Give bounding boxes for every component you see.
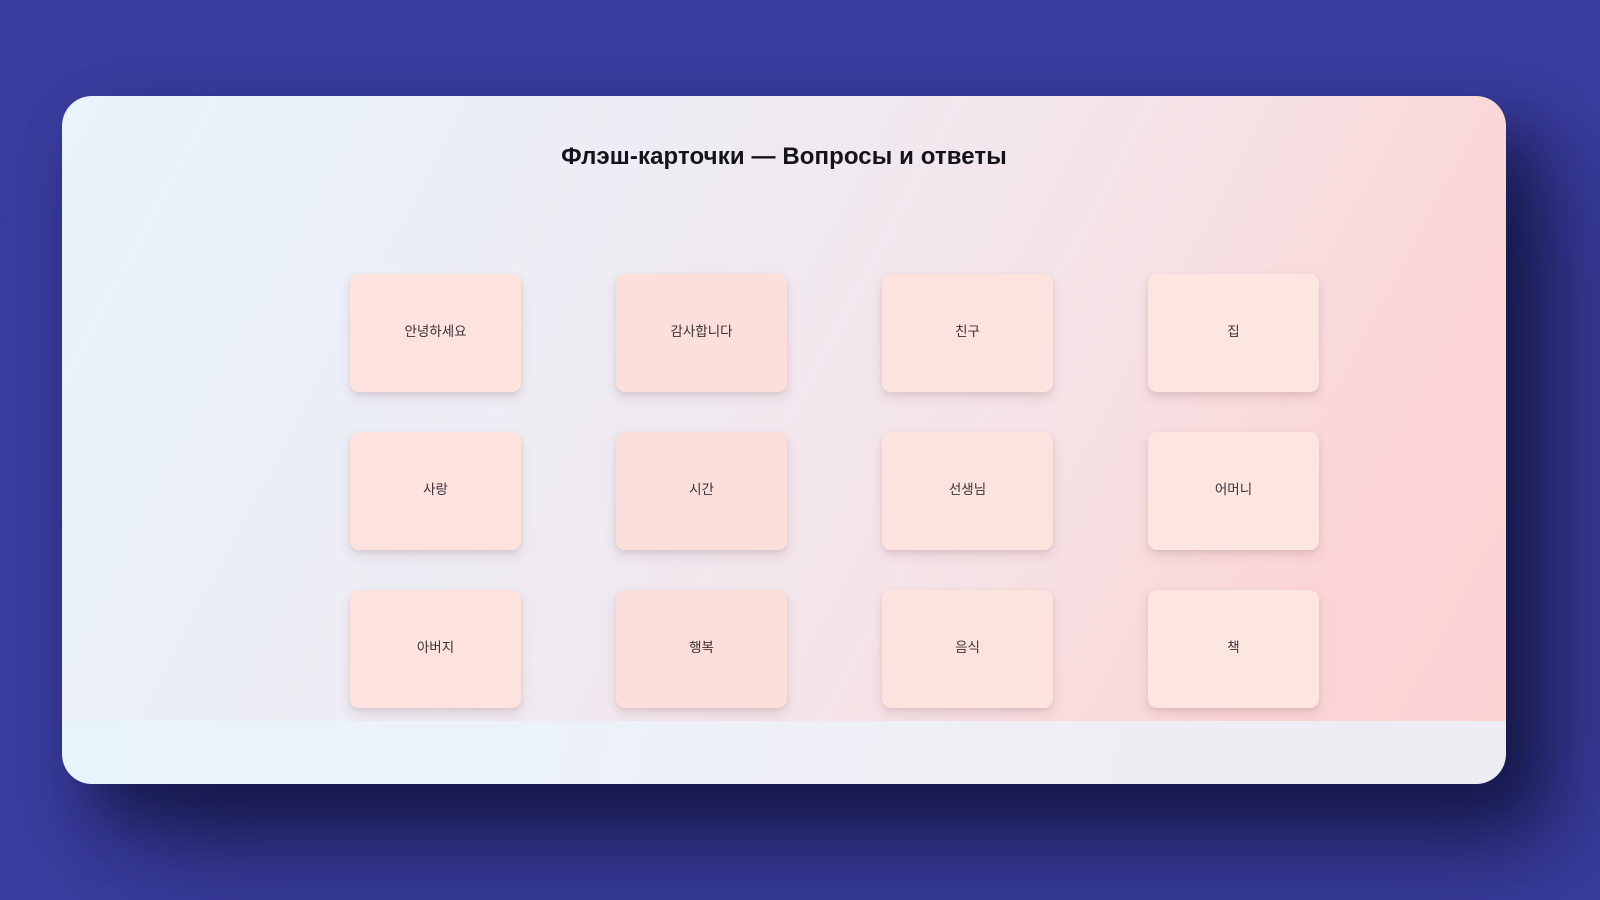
flashcard-5[interactable]: 사랑: [350, 432, 521, 550]
flashcard-10[interactable]: 행복: [616, 590, 787, 708]
flashcard-label: 책: [1227, 642, 1239, 656]
flashcard-label: 감사합니다: [670, 326, 732, 340]
flashcard-label: 안녕하세요: [404, 326, 466, 340]
page-title: Флэш-карточки — Вопросы и ответы: [62, 143, 1506, 171]
flashcard-1[interactable]: 안녕하세요: [350, 274, 521, 392]
flashcard-2[interactable]: 감사합니다: [616, 274, 787, 392]
flashcard-label: 선생님: [949, 484, 986, 498]
flashcard-12[interactable]: 책: [1148, 590, 1319, 708]
flashcard-7[interactable]: 선생님: [882, 432, 1053, 550]
flashcard-label: 음식: [955, 642, 980, 656]
flashcard-6[interactable]: 시간: [616, 432, 787, 550]
flashcard-label: 집: [1227, 326, 1239, 340]
flashcard-8[interactable]: 어머니: [1148, 432, 1319, 550]
app-footer: [62, 721, 1506, 784]
flashcard-11[interactable]: 음식: [882, 590, 1053, 708]
flashcard-label: 친구: [955, 326, 980, 340]
flashcard-3[interactable]: 친구: [882, 274, 1053, 392]
flashcard-app-window: Флэш-карточки — Вопросы и ответы 안녕하세요 감…: [62, 96, 1506, 784]
flashcard-grid: 안녕하세요 감사합니다 친구 집 사랑 시간 선생님 어머니: [350, 274, 1321, 708]
flashcard-4[interactable]: 집: [1148, 274, 1319, 392]
card-stage: Флэш-карточки — Вопросы и ответы 안녕하세요 감…: [62, 96, 1506, 721]
flashcard-label: 어머니: [1215, 484, 1252, 498]
flashcard-label: 사랑: [423, 484, 448, 498]
flashcard-label: 행복: [689, 642, 714, 656]
flashcard-label: 시간: [689, 484, 714, 498]
flashcard-label: 아버지: [417, 642, 454, 656]
flashcard-9[interactable]: 아버지: [350, 590, 521, 708]
